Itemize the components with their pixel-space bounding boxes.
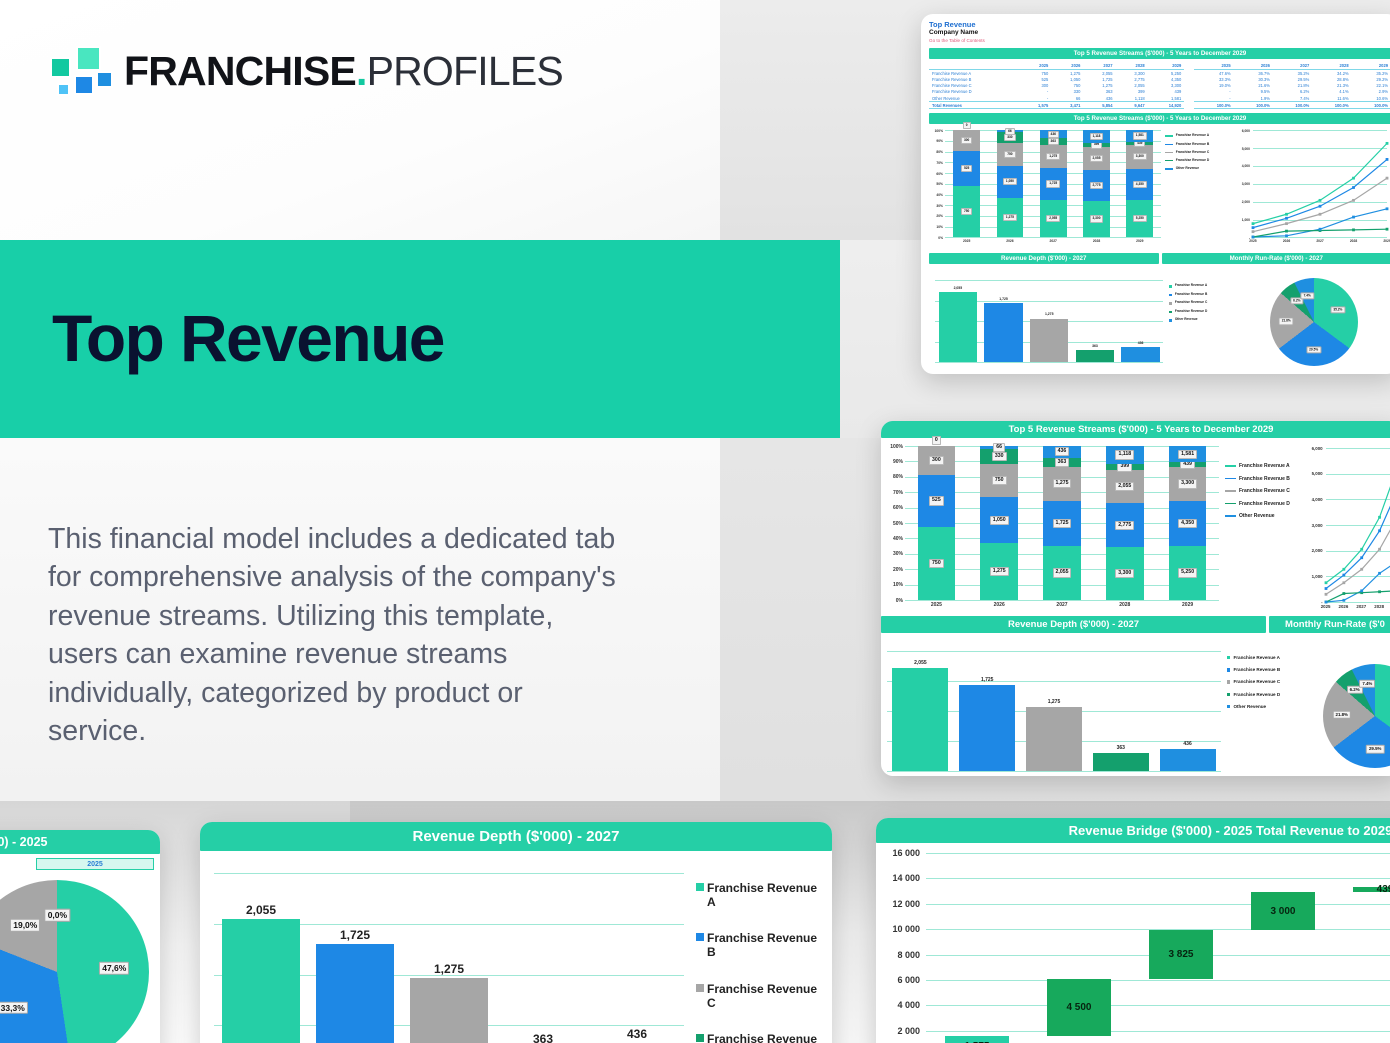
bar-value-label: 436 xyxy=(1118,341,1164,345)
table-cell: Total Revenues xyxy=(929,102,1019,109)
table-col-header: 2027 xyxy=(1083,62,1115,70)
segment-value-label: 0 xyxy=(963,122,971,129)
chart-gridline xyxy=(905,600,1219,601)
segment-value-label: 0 xyxy=(932,436,941,445)
segment-value-label: 363 xyxy=(1055,458,1070,467)
chart-gridline xyxy=(926,1031,1390,1032)
bar-value-label: 436 xyxy=(590,1027,684,1041)
chart-gridline xyxy=(926,1005,1390,1006)
legend-item: Franchise Revenue A xyxy=(1225,464,1293,470)
segment-value-label: 525 xyxy=(929,496,944,505)
x-axis-tick-label: 2027 xyxy=(1032,239,1075,243)
legend-label: Franchise Revenue B xyxy=(1239,477,1290,483)
table-cell: 14,920 xyxy=(1148,102,1185,109)
legend-label: Franchise Revenue A xyxy=(1233,655,1280,660)
legend-swatch-icon xyxy=(696,1034,704,1042)
legend-swatch-icon xyxy=(1225,465,1236,467)
y-axis-tick-label: 40% xyxy=(929,193,943,197)
pie-slice-label: 29.5% xyxy=(1306,346,1321,353)
table-cell: 10.6% xyxy=(1352,95,1390,102)
chart-gridline xyxy=(926,878,1390,879)
y-axis-tick-label: 0% xyxy=(881,598,903,604)
legend-label: Franchise Revenue D xyxy=(1233,692,1280,697)
chart-gridline xyxy=(935,280,1163,281)
stacked-bar-segment: 750 xyxy=(953,186,980,237)
legend-swatch-icon xyxy=(1169,319,1171,321)
y-axis-tick-label: 10% xyxy=(881,582,903,588)
legend-label: Franchise Revenue C xyxy=(1175,301,1207,305)
stacked-bar-column: 1,2751,05075033066 xyxy=(997,130,1024,237)
segment-value-label: 2,775 xyxy=(1115,521,1134,530)
table-cell: 3,300 xyxy=(1116,70,1148,77)
table-col-header: 2029 xyxy=(1352,62,1390,70)
legend-swatch-icon xyxy=(1227,705,1230,708)
chart-gridline xyxy=(926,904,1390,905)
y-axis-tick-label: 40% xyxy=(881,536,903,542)
chart-gridline xyxy=(935,362,1163,363)
waterfall-bar: 3 825 xyxy=(1149,930,1212,979)
table-cell: 100.0% xyxy=(1352,102,1390,109)
y-axis-tick-label: 50% xyxy=(929,182,943,186)
stacked-bar-segment: 66 xyxy=(980,446,1018,449)
legend-swatch-icon xyxy=(1227,680,1230,683)
stacked-bar-segment: 399 xyxy=(1083,143,1110,147)
revenue-depth-chart: 2,0551,7251,275363436Franchise Revenue A… xyxy=(200,851,832,1043)
stacked-bar-column: 5,2504,3503,3004391,581 xyxy=(1126,130,1153,237)
brand-logo: FRANCHISE.PROFILES xyxy=(48,45,563,97)
detail-runrate-title: Monthly Run-Rate ($'0 xyxy=(1269,616,1390,633)
table-cell: Other Revenue xyxy=(929,95,1019,102)
panel-revenue-bridge-screenshot[interactable]: Revenue Bridge ($'000) - 2025 Total Reve… xyxy=(876,818,1390,1043)
legend-item: Franchise Revenue C xyxy=(1169,301,1211,305)
legend-item: Franchise Revenue C xyxy=(1225,489,1293,495)
pie-slice-label: 33,3% xyxy=(0,1001,28,1014)
table-cell: 9,647 xyxy=(1116,102,1148,109)
legend-label: Other Revenue xyxy=(1239,514,1275,520)
stacked-bar-segment: 750 xyxy=(918,527,956,600)
bar-value-label: 436 xyxy=(1154,741,1221,747)
legend-label: Franchise Revenue A xyxy=(1239,464,1290,470)
segment-value-label: 1,725 xyxy=(1053,519,1072,528)
revenue-depth-bar xyxy=(1121,347,1159,362)
revenue-depth-legend: Franchise Revenue AFranchise Revenue BFr… xyxy=(1227,655,1293,716)
pie-slice-label: 7.4% xyxy=(1301,292,1314,299)
table-col-header: 2027 xyxy=(1273,62,1312,70)
stacked-bar-segment: 439 xyxy=(1169,462,1207,467)
segment-value-label: 3,300 xyxy=(1115,569,1134,578)
y-axis-tick-label: 12 000 xyxy=(876,899,920,909)
legend-swatch-icon xyxy=(1165,135,1172,136)
segment-value-label: 1,050 xyxy=(1003,178,1017,185)
revenue-depth-bar xyxy=(1076,350,1114,362)
stacked-bar-segment: 2,055 xyxy=(1040,200,1067,238)
x-axis-tick-label: 2026 xyxy=(1335,604,1353,609)
x-axis-tick-label: 2028 xyxy=(1075,239,1118,243)
table-cell: 100.0% xyxy=(1312,102,1351,109)
y-axis-tick-label: 0% xyxy=(929,236,943,240)
revenue-depth-bar xyxy=(1030,319,1068,363)
segment-value-label: 4,350 xyxy=(1178,519,1197,528)
panel-detail-screenshot[interactable]: Top 5 Revenue Streams ($'000) - 5 Years … xyxy=(881,421,1390,776)
segment-value-label: 66 xyxy=(993,443,1005,452)
revenue-depth-column-chart: 2,0551,7251,275363436Franchise Revenue A… xyxy=(881,637,1297,776)
legend-label: Franchise Revenue A xyxy=(1176,134,1209,138)
segment-value-label: 300 xyxy=(961,137,972,144)
stacked-bar-segment: 66 xyxy=(997,130,1024,132)
table-cell: 3,471 xyxy=(1051,102,1083,109)
segment-value-label: 1,118 xyxy=(1115,450,1134,459)
table-col-header: 2026 xyxy=(1051,62,1083,70)
pie-slice-label: 21.8% xyxy=(1333,711,1351,719)
revenue-depth-bar xyxy=(892,668,948,771)
stacked-bar-segment: 2,775 xyxy=(1106,503,1144,547)
waterfall-bar: 4 500 xyxy=(1047,979,1110,1036)
table-cell: 34.2% xyxy=(1312,70,1351,77)
legend-label: Franchise Revenue B xyxy=(1175,293,1207,297)
stacked-bar-segment: 5,250 xyxy=(1126,200,1153,238)
legend-item: Franchise Revenue A xyxy=(1227,655,1293,660)
table-cell: 47.6% xyxy=(1194,70,1233,77)
table-cell: 100.0% xyxy=(1273,102,1312,109)
bar-value-label: 1,725 xyxy=(954,677,1021,683)
y-axis-tick-label: 20% xyxy=(881,567,903,573)
y-axis-tick-label: 100% xyxy=(929,129,943,133)
segment-value-label: 66 xyxy=(1005,128,1015,135)
overview-runrate-title: Monthly Run-Rate ($'000) - 2027 xyxy=(1162,253,1390,264)
stacked-bar-segment: 1,050 xyxy=(997,166,1024,198)
y-axis-tick-label: 6 000 xyxy=(876,975,920,985)
legend-swatch-icon xyxy=(696,984,704,992)
revenue-depth-bar xyxy=(222,919,301,1043)
table-cell: 35.2% xyxy=(1273,70,1312,77)
legend-item: Franchise Revenue B xyxy=(1227,667,1293,672)
overview-table-title: Top 5 Revenue Streams ($'000) - 5 Years … xyxy=(929,48,1390,59)
logo-dot: . xyxy=(356,48,367,94)
legend-item: Franchise Revenue D xyxy=(1225,502,1293,508)
segment-value-label: 750 xyxy=(929,559,944,568)
bar-value-label: 2,055 xyxy=(887,660,954,666)
y-axis-tick-label: 30% xyxy=(929,204,943,208)
legend-item: Franchise Revenue A xyxy=(1165,134,1211,138)
pie-slice-label: 29.5% xyxy=(1366,745,1384,753)
segment-value-label: 363 xyxy=(1048,138,1059,145)
stacked-bar-segment: 436 xyxy=(1040,130,1067,138)
segment-value-label: 1,725 xyxy=(1046,180,1060,187)
table-cell: 436 xyxy=(1083,95,1115,102)
detail-pie-wrap: 35.2%29.5%21.8%6.2%7.4% xyxy=(1297,633,1390,776)
monthly-runrate-line-chart: -1,0002,0003,0004,0005,0006,000202520262… xyxy=(1300,442,1390,614)
segment-value-label: 1,275 xyxy=(1003,214,1017,221)
y-axis-tick-label: 30% xyxy=(881,551,903,557)
legend-label: Franchise Revenue B xyxy=(1176,143,1210,147)
table-cell: 7.4% xyxy=(1273,95,1312,102)
segment-value-label: 2,055 xyxy=(1090,155,1104,162)
bg-band-top-left xyxy=(0,0,720,240)
overview-stacked-wrap: 0%10%20%30%40%50%60%70%80%90%100%7505253… xyxy=(929,124,1215,249)
table-row: Other Revenue-664361,1181,581-1.9%7.4%11… xyxy=(929,95,1390,102)
table-cell: 100.0% xyxy=(1234,102,1273,109)
y-axis-tick-label: 4 000 xyxy=(876,1000,920,1010)
table-col-header: 2026 xyxy=(1234,62,1273,70)
stacked-bar-segment: 1,118 xyxy=(1106,446,1144,464)
legend-item: Franchise Revenue D xyxy=(1227,692,1293,697)
revenue-depth-bar xyxy=(1026,707,1082,771)
stacked-bar-segment: 363 xyxy=(1040,138,1067,145)
legend-swatch-icon xyxy=(1225,515,1236,517)
legend-item: Other Revenue xyxy=(1227,704,1293,709)
stacked-chart-legend: Franchise Revenue AFranchise Revenue BFr… xyxy=(1165,134,1211,175)
stacked-bar-segment: 3,300 xyxy=(1106,547,1144,600)
x-axis-tick-label: 2026 xyxy=(1270,239,1304,243)
revenue-depth-legend: Franchise Revenue AFranchise Revenue BFr… xyxy=(1169,284,1211,326)
table-row: Total Revenues1,5753,4715,8549,64714,920… xyxy=(929,102,1390,109)
stacked-bar-segment: 439 xyxy=(1126,142,1153,145)
table-cell: 750 xyxy=(1019,70,1051,77)
legend-item: Franchise Revenue B xyxy=(696,931,824,959)
segment-value-label: 1,275 xyxy=(1053,479,1072,488)
stacked-bar-segment: 3,300 xyxy=(1169,467,1207,501)
segment-value-label: 5,250 xyxy=(1133,215,1147,222)
segment-value-label: 750 xyxy=(961,208,972,215)
x-axis-tick-label: 2027 xyxy=(1031,602,1094,608)
stacked-bar-column: 2,0551,7251,275363436 xyxy=(1040,130,1067,237)
detail-stacked-chart: 0%10%20%30%40%50%60%70%80%90%100%7505253… xyxy=(881,438,1390,616)
overview-depth-title: Revenue Depth ($'000) - 2027 xyxy=(929,253,1159,264)
detail-lower-charts: 2,0551,7251,275363436Franchise Revenue A… xyxy=(881,633,1390,776)
revenue-depth-bar xyxy=(1160,749,1216,771)
legend-swatch-icon xyxy=(1225,490,1236,492)
bar-value-label: 1,725 xyxy=(308,928,402,942)
y-axis-tick-label: 90% xyxy=(929,139,943,143)
bar-value-label: 2,055 xyxy=(214,903,308,917)
stacked-bar-segment: 1,725 xyxy=(1043,501,1081,546)
table-cell: 36.7% xyxy=(1234,70,1273,77)
table-cell xyxy=(1184,102,1194,109)
stacked-bar-segment: 1,581 xyxy=(1169,446,1207,462)
x-axis-tick-label: 2027 xyxy=(1303,239,1337,243)
table-cell: 1,275 xyxy=(1051,70,1083,77)
y-axis-tick-label: 70% xyxy=(881,490,903,496)
legend-item: Franchise Revenue D xyxy=(1169,310,1211,314)
logo-wordmark: FRANCHISE.PROFILES xyxy=(124,51,563,92)
legend-item: Franchise Revenue A xyxy=(696,881,824,909)
x-axis-tick-label: 2029 xyxy=(1370,239,1390,243)
monthly-runrate-line-chart: -1,0002,0003,0004,0005,0006,000202520262… xyxy=(1227,124,1390,249)
table-row: Franchise Revenue A7501,2752,0553,3005,2… xyxy=(929,70,1390,77)
bar-value-label: 1,275 xyxy=(1021,699,1088,705)
y-axis-tick-label: 20% xyxy=(929,214,943,218)
segment-value-label: 330 xyxy=(992,452,1007,461)
segment-value-label: 1,275 xyxy=(990,567,1009,576)
panel-overview-screenshot[interactable]: Top Revenue Company Name Go to the Table… xyxy=(921,14,1390,374)
legend-item: Franchise Revenue C xyxy=(1227,679,1293,684)
segment-value-label: 1,050 xyxy=(990,516,1009,525)
legend-label: Franchise Revenue C xyxy=(707,982,824,1010)
segment-value-label: 1,275 xyxy=(1046,153,1060,160)
y-axis-tick-label: 10 000 xyxy=(876,924,920,934)
segment-value-label: 750 xyxy=(1004,151,1015,158)
chart-gridline xyxy=(214,873,684,874)
table-col-header: 2025 xyxy=(1019,62,1051,70)
logo-squares-icon xyxy=(48,45,106,97)
segment-value-label: 2,055 xyxy=(1115,482,1134,491)
stacked-bar-column: 2,0551,7251,275363436 xyxy=(1043,446,1081,600)
legend-swatch-icon xyxy=(1165,168,1172,169)
x-axis-tick-label: 2026 xyxy=(988,239,1031,243)
table-cell: Franchise Revenue A xyxy=(929,70,1019,77)
segment-value-label: 1,118 xyxy=(1090,133,1104,140)
segment-value-label: 2,775 xyxy=(1090,182,1104,189)
legend-swatch-icon xyxy=(1169,302,1171,304)
segment-value-label: 525 xyxy=(961,165,972,172)
stacked-bar-segment: 2,775 xyxy=(1083,170,1110,201)
x-axis-tick-label: 2028 xyxy=(1370,604,1388,609)
revenue-depth-bar xyxy=(984,303,1022,362)
segment-value-label: 300 xyxy=(929,456,944,465)
legend-item: Franchise Revenue C xyxy=(1165,151,1211,155)
overview-charts-row: 0%10%20%30%40%50%60%70%80%90%100%7505253… xyxy=(929,124,1390,249)
pie-slice-label: 21.8% xyxy=(1279,318,1294,325)
legend-item: Other Revenue xyxy=(1165,167,1211,171)
legend-label: Franchise Revenue B xyxy=(1233,667,1280,672)
bridge-panel-title: Revenue Bridge ($'000) - 2025 Total Reve… xyxy=(876,818,1390,843)
x-axis-tick-label: 2026 xyxy=(968,602,1031,608)
stacked-bar-segment: 1,581 xyxy=(1126,130,1153,141)
legend-item: Franchise Revenue A xyxy=(1169,284,1211,288)
stacked-bar-segment: 363 xyxy=(1043,458,1081,468)
bar-value-label: 1,275 xyxy=(402,962,496,976)
stacked-bar-segment: 1,275 xyxy=(980,543,1018,600)
x-axis-tick-label: 2025 xyxy=(1317,604,1335,609)
pie-slice-label: 7.4% xyxy=(1359,679,1375,687)
legend-item: Franchise Revenue D xyxy=(696,1032,824,1043)
table-cell: 35.2% xyxy=(1352,70,1390,77)
stacked-bar-segment: 2,055 xyxy=(1106,470,1144,503)
stacked-bar-column: 3,3002,7752,0553991,118 xyxy=(1083,130,1110,237)
revenue-depth-bar xyxy=(316,944,395,1043)
revenue-depth-legend: Franchise Revenue AFranchise Revenue BFr… xyxy=(696,881,824,1043)
stacked-bar-segment: 300 xyxy=(953,130,980,150)
legend-swatch-icon xyxy=(696,883,704,891)
segment-value-label: 436 xyxy=(1048,131,1059,138)
legend-label: Other Revenue xyxy=(1233,704,1266,709)
bar-value-label: 363 xyxy=(1087,745,1154,751)
pie-panel-title: y Run-Rate ($'000) - 2025 xyxy=(0,830,160,854)
segment-value-label: 436 xyxy=(1055,447,1070,456)
stacked-chart-legend: Franchise Revenue AFranchise Revenue BFr… xyxy=(1225,464,1293,527)
y-axis-tick-label: 80% xyxy=(881,474,903,480)
logo-square-teal-dark xyxy=(50,57,71,78)
stacked-bar-segment: 750 xyxy=(980,464,1018,497)
segment-value-label: 2,055 xyxy=(1046,215,1060,222)
overview-revenue-table: 2025202620272028202920252026202720282029… xyxy=(929,62,1390,109)
y-axis-tick-label: 90% xyxy=(881,459,903,465)
panel-revenue-depth-screenshot[interactable]: Revenue Depth ($'000) - 2027 2,0551,7251… xyxy=(200,822,832,1043)
stacked-bar-segment: 4,350 xyxy=(1126,169,1153,200)
detail-stacked-wrap: 0%10%20%30%40%50%60%70%80%90%100%7505253… xyxy=(881,438,1297,616)
table-cell: 66 xyxy=(1051,95,1083,102)
legend-label: Franchise Revenue D xyxy=(1176,159,1210,163)
table-cell: 1.9% xyxy=(1234,95,1273,102)
legend-label: Franchise Revenue B xyxy=(707,931,824,959)
stacked-bar-segment: 5,250 xyxy=(1169,546,1207,600)
x-axis-tick-label: 2025 xyxy=(945,239,988,243)
stacked-bar-column: 75052530000 xyxy=(953,130,980,237)
table-col-header xyxy=(929,62,1019,70)
y-axis-tick-label: 10% xyxy=(929,225,943,229)
x-axis-tick-label: 2029 xyxy=(1156,602,1219,608)
waterfall-bar: 1 575 xyxy=(945,1036,1008,1043)
detail-chart-title: Top 5 Revenue Streams ($'000) - 5 Years … xyxy=(881,421,1390,438)
y-axis-tick-label: 14 000 xyxy=(876,873,920,883)
table-cell: 5,854 xyxy=(1083,102,1115,109)
legend-item: Other Revenue xyxy=(1225,514,1293,520)
stacked-bar-segment: 3,300 xyxy=(1126,145,1153,169)
legend-label: Other Revenue xyxy=(1175,318,1198,322)
table-col-header: 2029 xyxy=(1148,62,1185,70)
legend-item: Franchise Revenue D xyxy=(1165,159,1211,163)
y-axis-tick-label: 50% xyxy=(881,521,903,527)
pie-slice-label: 19,0% xyxy=(10,919,40,932)
table-col-header: 2028 xyxy=(1116,62,1148,70)
legend-swatch-icon xyxy=(1169,294,1171,296)
chart-gridline xyxy=(887,651,1221,652)
segment-value-label: 3,300 xyxy=(1090,215,1104,222)
panel-pie-screenshot[interactable]: y Run-Rate ($'000) - 2025 202547,6%33,3%… xyxy=(0,830,160,1043)
overview-toc-link[interactable]: Go to the Table of Contents xyxy=(929,38,1390,44)
revenue-depth-bar xyxy=(939,292,977,362)
legend-swatch-icon xyxy=(1165,160,1172,161)
legend-swatch-icon xyxy=(1169,311,1171,313)
line-series-svg xyxy=(1227,124,1390,249)
table-cell: 2,055 xyxy=(1083,70,1115,77)
stacked-bar-segment: 2,055 xyxy=(1083,147,1110,170)
stacked-bar-segment: 436 xyxy=(1043,446,1081,457)
stacked-bar-segment: 1,275 xyxy=(997,198,1024,237)
table-cell: 1,575 xyxy=(1019,102,1051,109)
hero-description: This financial model includes a dedicate… xyxy=(48,520,623,751)
legend-label: Franchise Revenue D xyxy=(707,1032,824,1043)
bar-value-label: 1,725 xyxy=(981,297,1027,301)
revenue-depth-bar xyxy=(1093,753,1149,771)
legend-label: Franchise Revenue A xyxy=(707,881,824,909)
legend-swatch-icon xyxy=(1227,668,1230,671)
table-col-header xyxy=(1184,62,1194,70)
pie-chart-2025: 202547,6%33,3%19,0%0,0%0,0% xyxy=(0,854,160,1043)
y-axis-tick-label: 100% xyxy=(881,444,903,450)
x-axis-tick-label: 2028 xyxy=(1337,239,1371,243)
legend-label: Franchise Revenue A xyxy=(1175,284,1207,288)
pie-slice-label: 0,0% xyxy=(45,909,70,922)
table-cell: 1,118 xyxy=(1116,95,1148,102)
bar-value-label: 2,055 xyxy=(935,286,981,290)
table-cell: 11.6% xyxy=(1312,95,1351,102)
stacked-bar-segment: 1,725 xyxy=(1040,168,1067,200)
stacked-bar-segment: 1,275 xyxy=(1043,467,1081,501)
x-axis-tick-label: 2025 xyxy=(905,602,968,608)
table-header-row: 2025202620272028202920252026202720282029 xyxy=(929,62,1390,70)
stacked-bar-segment: 1,050 xyxy=(980,497,1018,544)
legend-label: Franchise Revenue C xyxy=(1239,489,1290,495)
pie-slice-label: 35.2% xyxy=(1330,306,1345,313)
y-axis-tick-label: 16 000 xyxy=(876,848,920,858)
revenue-streams-table: 2025202620272028202920252026202720282029… xyxy=(929,62,1390,109)
revenue-depth-bar xyxy=(410,978,489,1043)
stacked-bar-segment: 300 xyxy=(918,446,956,475)
legend-swatch-icon xyxy=(1169,285,1171,287)
overview-pie-wrap: 35.2%29.5%21.8%6.2%7.4% xyxy=(1220,264,1390,372)
logo-square-blue xyxy=(74,75,94,95)
